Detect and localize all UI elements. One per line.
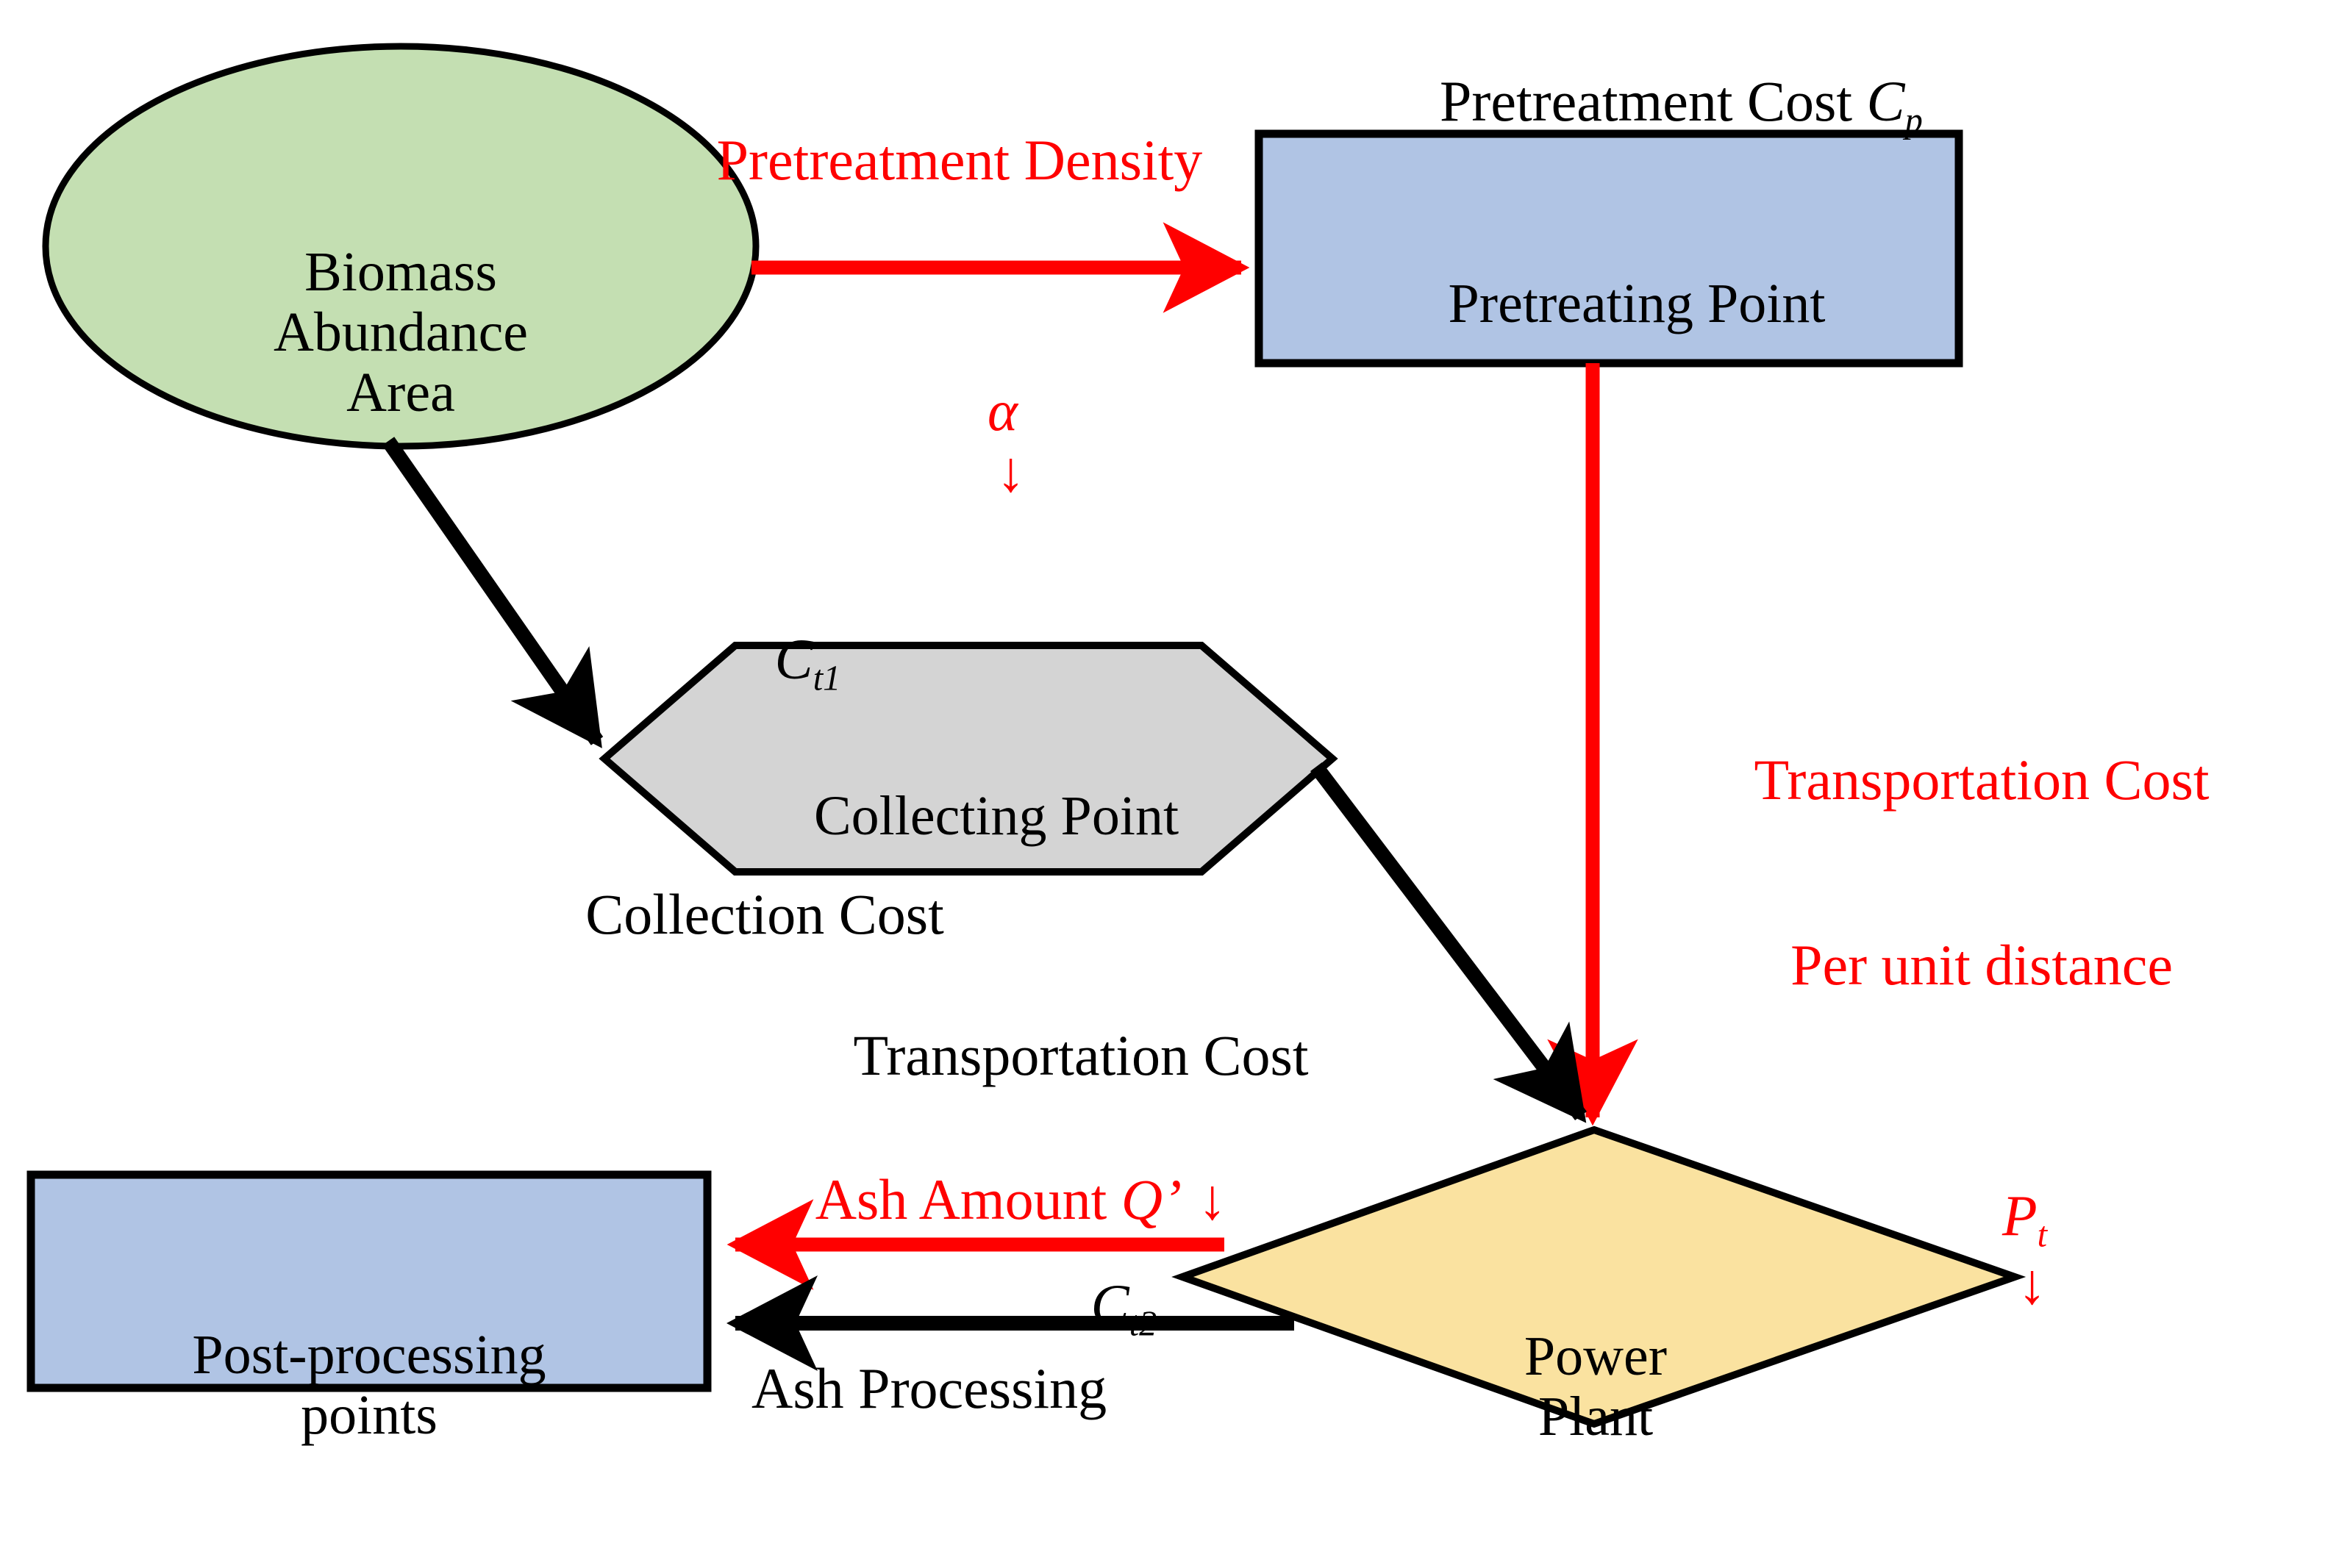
pretreatment-density-symbol: α [988, 379, 1018, 443]
node-label-post-processing-points: Post-processing points [31, 1204, 707, 1566]
ash-amount-down-arrow-icon: ↓ [1198, 1167, 1226, 1231]
ash-amount-text: Ash Amount [815, 1167, 1121, 1231]
ash-amount-symbol: Q’ [1121, 1167, 1182, 1231]
edge-label-ash-amount: Ash Amount Q’↓ [761, 1109, 1226, 1291]
pretreatment-cost-symbol: C [1867, 69, 1905, 133]
edge-label-pretreatment-cost: Pretreatment Cost Cp [1382, 10, 1923, 200]
edge-label-transportation-cost-red: Transportation Cost Per unit distance Pt… [1629, 629, 2335, 1497]
transportation-cost-black-text: Transportation Cost [706, 1025, 1456, 1086]
diagram-canvas: Biomass Abundance Area Pretreating Point… [0, 0, 2339, 1452]
edge-label-ash-processing: Ash Processing [751, 1358, 1107, 1420]
pretreatment-density-title: Pretreatment Density [588, 130, 1331, 191]
pretreatment-cost-subscript: p [1905, 101, 1923, 140]
transportation-cost-red-subscript: t [2038, 1216, 2047, 1255]
pretreatment-cost-text: Pretreatment Cost [1440, 69, 1867, 133]
collection-cost-subscript: t1 [813, 659, 841, 698]
transportation-cost-red-down-arrow-icon: ↓ [2018, 1252, 2046, 1316]
transportation-cost-red-symbol: P [2002, 1184, 2038, 1247]
transportation-cost-red-line2: Per unit distance [1629, 935, 2335, 996]
node-label-pretreating-point: Pretreating Point [1259, 213, 1959, 394]
transportation-cost-red-line1: Transportation Cost [1629, 750, 2335, 811]
transportation-cost-black-subscript: t2 [1129, 1305, 1157, 1344]
collection-cost-symbol: C [775, 627, 813, 691]
